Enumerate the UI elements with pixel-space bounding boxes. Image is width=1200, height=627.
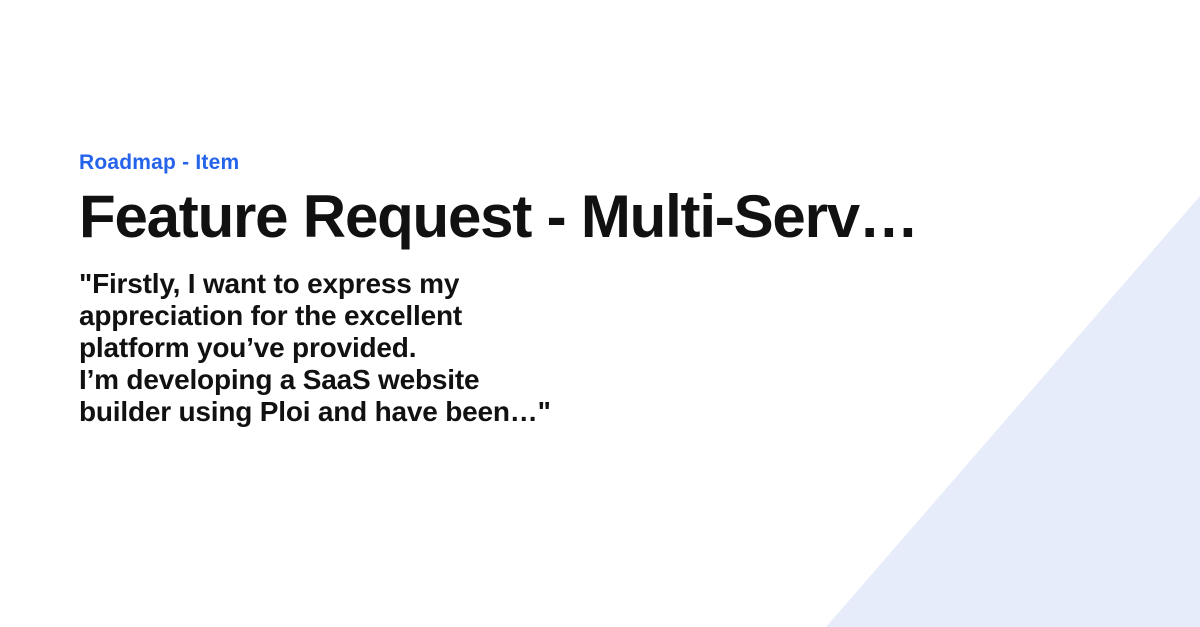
card-content: Roadmap - Item Feature Request - Multi-S… <box>79 150 1039 428</box>
share-card: Roadmap - Item Feature Request - Multi-S… <box>0 0 1200 627</box>
breadcrumb-eyebrow: Roadmap - Item <box>79 150 1039 176</box>
page-title: Feature Request - Multi-Serv… <box>79 184 1019 250</box>
excerpt-text: "Firstly, I want to express my appreciat… <box>79 268 569 428</box>
